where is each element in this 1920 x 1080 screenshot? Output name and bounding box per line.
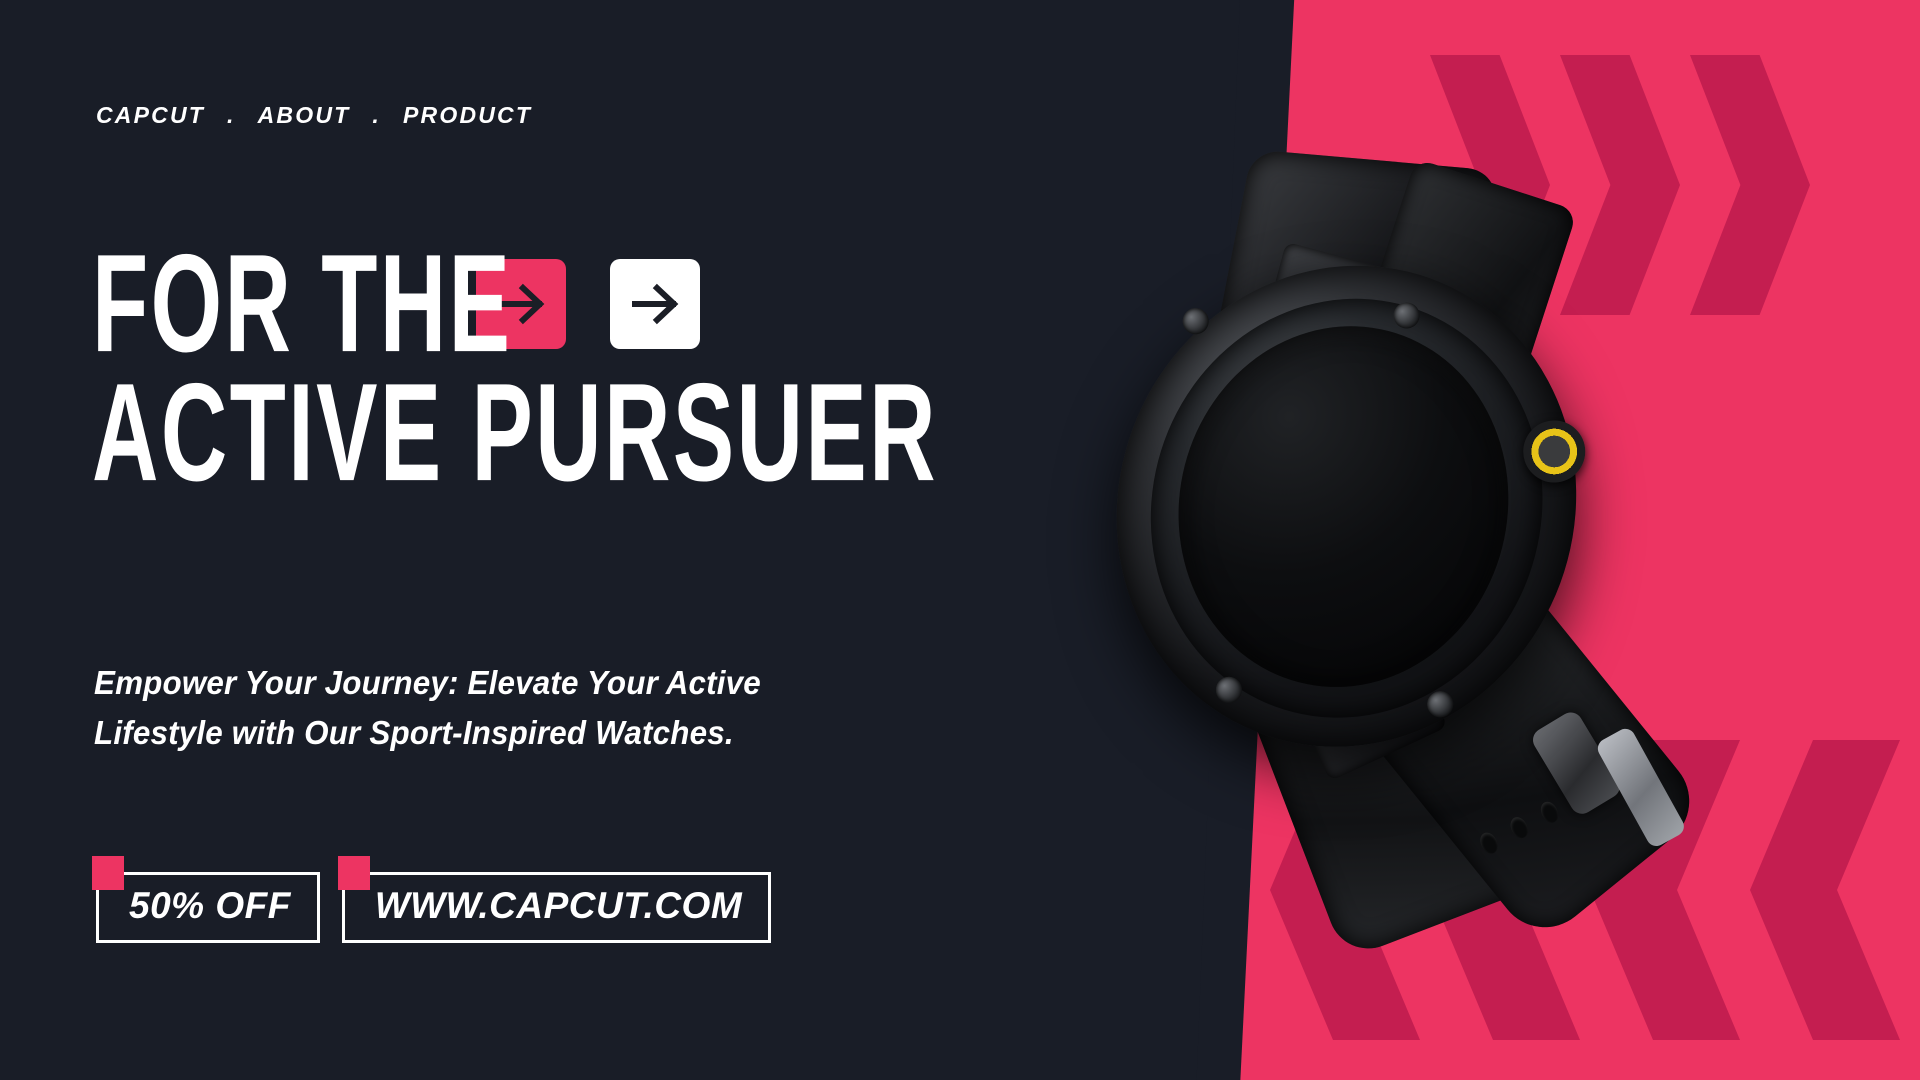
arrow-right-icon xyxy=(627,276,683,332)
nav-item-capcut[interactable]: CAPCUT xyxy=(96,102,205,129)
footer-badges: 50% OFF WWW.CAPCUT.COM xyxy=(96,872,771,943)
badge-corner-square xyxy=(338,856,370,890)
crown-button-icon xyxy=(1523,420,1586,483)
website-badge-label: WWW.CAPCUT.COM xyxy=(342,872,771,943)
promo-banner: SPO xyxy=(0,0,1920,1080)
headline-line-2: ACTIVE PURSUER xyxy=(92,369,739,497)
hero-subcopy: Empower Your Journey: Elevate Your Activ… xyxy=(94,658,816,758)
badge-corner-square xyxy=(92,856,124,890)
headline-row-1: FOR THE xyxy=(92,250,922,359)
cta-arrow-secondary-button[interactable] xyxy=(610,259,700,349)
hero-headline-block: FOR THE ACTIVE xyxy=(92,250,922,487)
product-image-smartwatch xyxy=(1046,110,1833,950)
nav-item-product[interactable]: PRODUCT xyxy=(403,102,532,129)
headline-line-1: FOR THE xyxy=(92,240,512,368)
discount-badge[interactable]: 50% OFF xyxy=(96,872,320,943)
discount-badge-label: 50% OFF xyxy=(96,872,320,943)
top-navigation: CAPCUT . ABOUT . PRODUCT xyxy=(96,102,532,129)
nav-item-about[interactable]: ABOUT xyxy=(258,102,351,129)
nav-separator: . xyxy=(372,102,381,129)
nav-separator: . xyxy=(227,102,236,129)
website-badge[interactable]: WWW.CAPCUT.COM xyxy=(342,872,771,943)
